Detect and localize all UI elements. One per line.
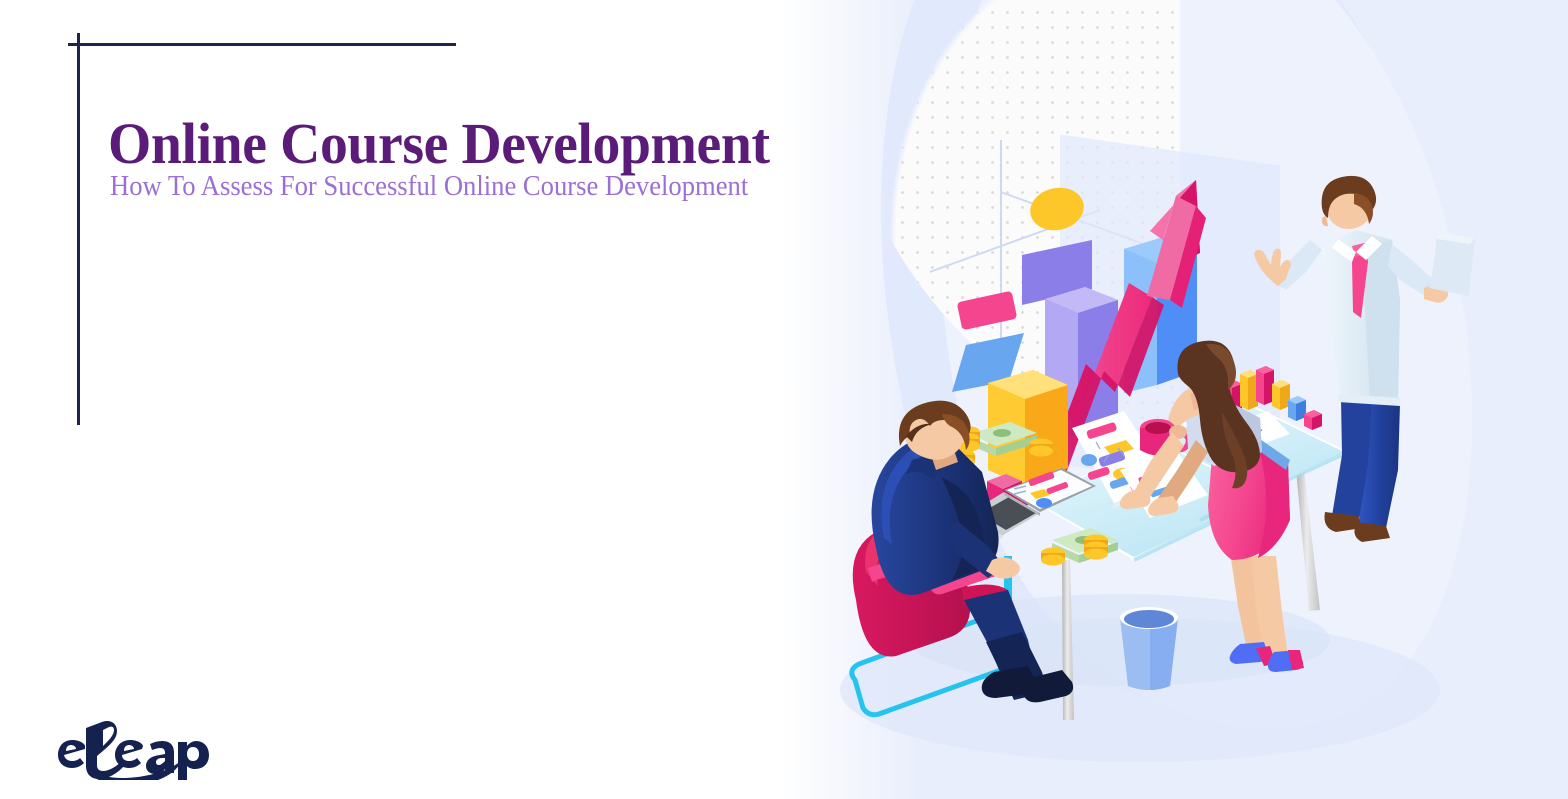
header-rule-horizontal [68, 43, 456, 46]
page-subtitle: How To Assess For Successful Online Cour… [110, 170, 748, 204]
page-title: Online Course Development [108, 112, 770, 176]
axis-guide-vertical [1000, 140, 1002, 400]
eleap-logo[interactable] [58, 714, 248, 780]
eleap-logo-icon [58, 714, 248, 780]
header-rule-vertical [77, 33, 80, 425]
banner-canvas: Online Course Development How To Assess … [0, 0, 1568, 799]
background-wall-panel [1060, 135, 1280, 496]
